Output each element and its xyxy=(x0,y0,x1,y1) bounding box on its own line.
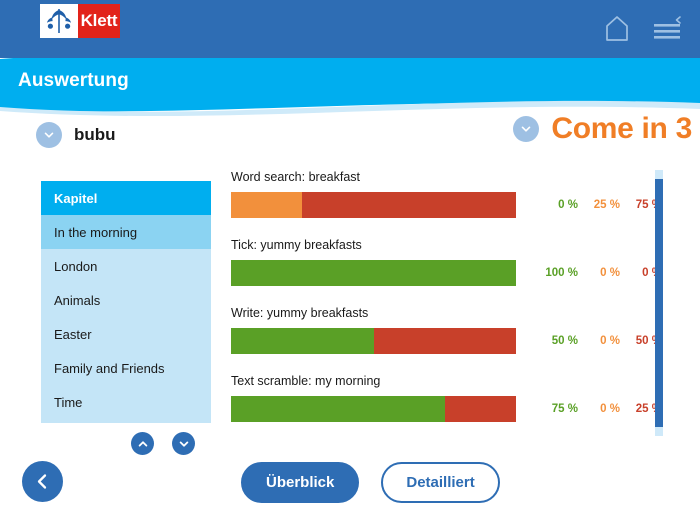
sidebar-item-label: Time xyxy=(54,395,82,410)
percent-values: 100 %0 %0 % xyxy=(536,267,662,279)
bar-segment xyxy=(231,396,445,422)
percent-orange: 25 % xyxy=(578,199,620,211)
chevron-down-icon[interactable] xyxy=(513,116,539,142)
percent-green: 50 % xyxy=(536,335,578,347)
task-bar-row: 0 %25 %75 % xyxy=(231,192,651,218)
task-bar-row: 75 %0 %25 % xyxy=(231,396,651,422)
percent-orange: 0 % xyxy=(578,335,620,347)
page-title: Auswertung xyxy=(18,70,129,92)
percent-orange: 0 % xyxy=(578,267,620,279)
percent-values: 75 %0 %25 % xyxy=(536,403,662,415)
task-bar-row: 100 %0 %0 % xyxy=(231,260,651,286)
sidebar-item[interactable]: Animals xyxy=(41,283,211,317)
chapter-scroll-controls xyxy=(131,432,195,455)
app-root: Auswertung Klett xyxy=(0,0,700,525)
sidebar-item-label: Family and Friends xyxy=(54,361,165,376)
stacked-bar xyxy=(231,192,516,218)
hamburger-menu-icon[interactable] xyxy=(650,12,684,44)
percent-green: 0 % xyxy=(536,199,578,211)
home-icon[interactable] xyxy=(602,14,632,42)
stacked-bar xyxy=(231,260,516,286)
task-result-row: Word search: breakfast0 %25 %75 % xyxy=(231,170,651,218)
bar-segment xyxy=(231,192,302,218)
percent-orange: 0 % xyxy=(578,403,620,415)
sidebar-item[interactable]: In the morning xyxy=(41,215,211,249)
scrollbar-thumb[interactable] xyxy=(655,179,663,427)
percent-values: 50 %0 %50 % xyxy=(536,335,662,347)
chevron-down-icon[interactable] xyxy=(36,122,62,148)
bar-segment xyxy=(374,328,517,354)
bar-segment xyxy=(302,192,516,218)
bar-segment xyxy=(445,396,516,422)
sidebar-item-label: London xyxy=(54,259,97,274)
klett-logo-wordmark: Klett xyxy=(78,4,120,38)
sidebar-item-label: Easter xyxy=(54,327,92,342)
task-label: Text scramble: my morning xyxy=(231,374,651,388)
klett-logo[interactable]: Klett xyxy=(40,4,120,38)
overview-button[interactable]: Überblick xyxy=(241,462,359,503)
task-bar-row: 50 %0 %50 % xyxy=(231,328,651,354)
percent-values: 0 %25 %75 % xyxy=(536,199,662,211)
back-button[interactable] xyxy=(22,461,63,502)
sidebar-item[interactable]: Easter xyxy=(41,317,211,351)
view-mode-buttons: Überblick Detailliert xyxy=(241,462,500,503)
task-result-row: Write: yummy breakfasts50 %0 %50 % xyxy=(231,306,651,354)
sidebar-item[interactable]: Family and Friends xyxy=(41,351,211,385)
klett-logo-mark-icon xyxy=(40,4,78,38)
user-selector[interactable]: bubu xyxy=(36,122,116,148)
sidebar-item-label: Animals xyxy=(54,293,100,308)
task-label: Word search: breakfast xyxy=(231,170,651,184)
bar-segment xyxy=(231,328,374,354)
chevron-down-icon[interactable] xyxy=(172,432,195,455)
sidebar-item-label: In the morning xyxy=(54,225,137,240)
chevron-up-icon[interactable] xyxy=(131,432,154,455)
percent-green: 75 % xyxy=(536,403,578,415)
task-result-row: Tick: yummy breakfasts100 %0 %0 % xyxy=(231,238,651,286)
results-chart: Word search: breakfast0 %25 %75 %Tick: y… xyxy=(231,170,651,430)
results-scrollbar[interactable] xyxy=(655,170,663,436)
stacked-bar xyxy=(231,396,516,422)
task-label: Write: yummy breakfasts xyxy=(231,306,651,320)
series-title: Come in 3 xyxy=(551,112,692,146)
sidebar-item[interactable]: London xyxy=(41,249,211,283)
sidebar-item[interactable]: Time xyxy=(41,385,211,419)
chapter-list-header: Kapitel xyxy=(41,181,211,215)
detailed-button[interactable]: Detailliert xyxy=(381,462,499,503)
task-result-row: Text scramble: my morning75 %0 %25 % xyxy=(231,374,651,422)
user-name: bubu xyxy=(74,125,116,145)
task-label: Tick: yummy breakfasts xyxy=(231,238,651,252)
top-bar: Klett xyxy=(0,0,700,58)
percent-green: 100 % xyxy=(536,267,578,279)
stacked-bar xyxy=(231,328,516,354)
bar-segment xyxy=(231,260,516,286)
series-selector[interactable]: Come in 3 xyxy=(513,112,692,146)
chapter-list: Kapitel In the morningLondonAnimalsEaste… xyxy=(41,181,211,423)
